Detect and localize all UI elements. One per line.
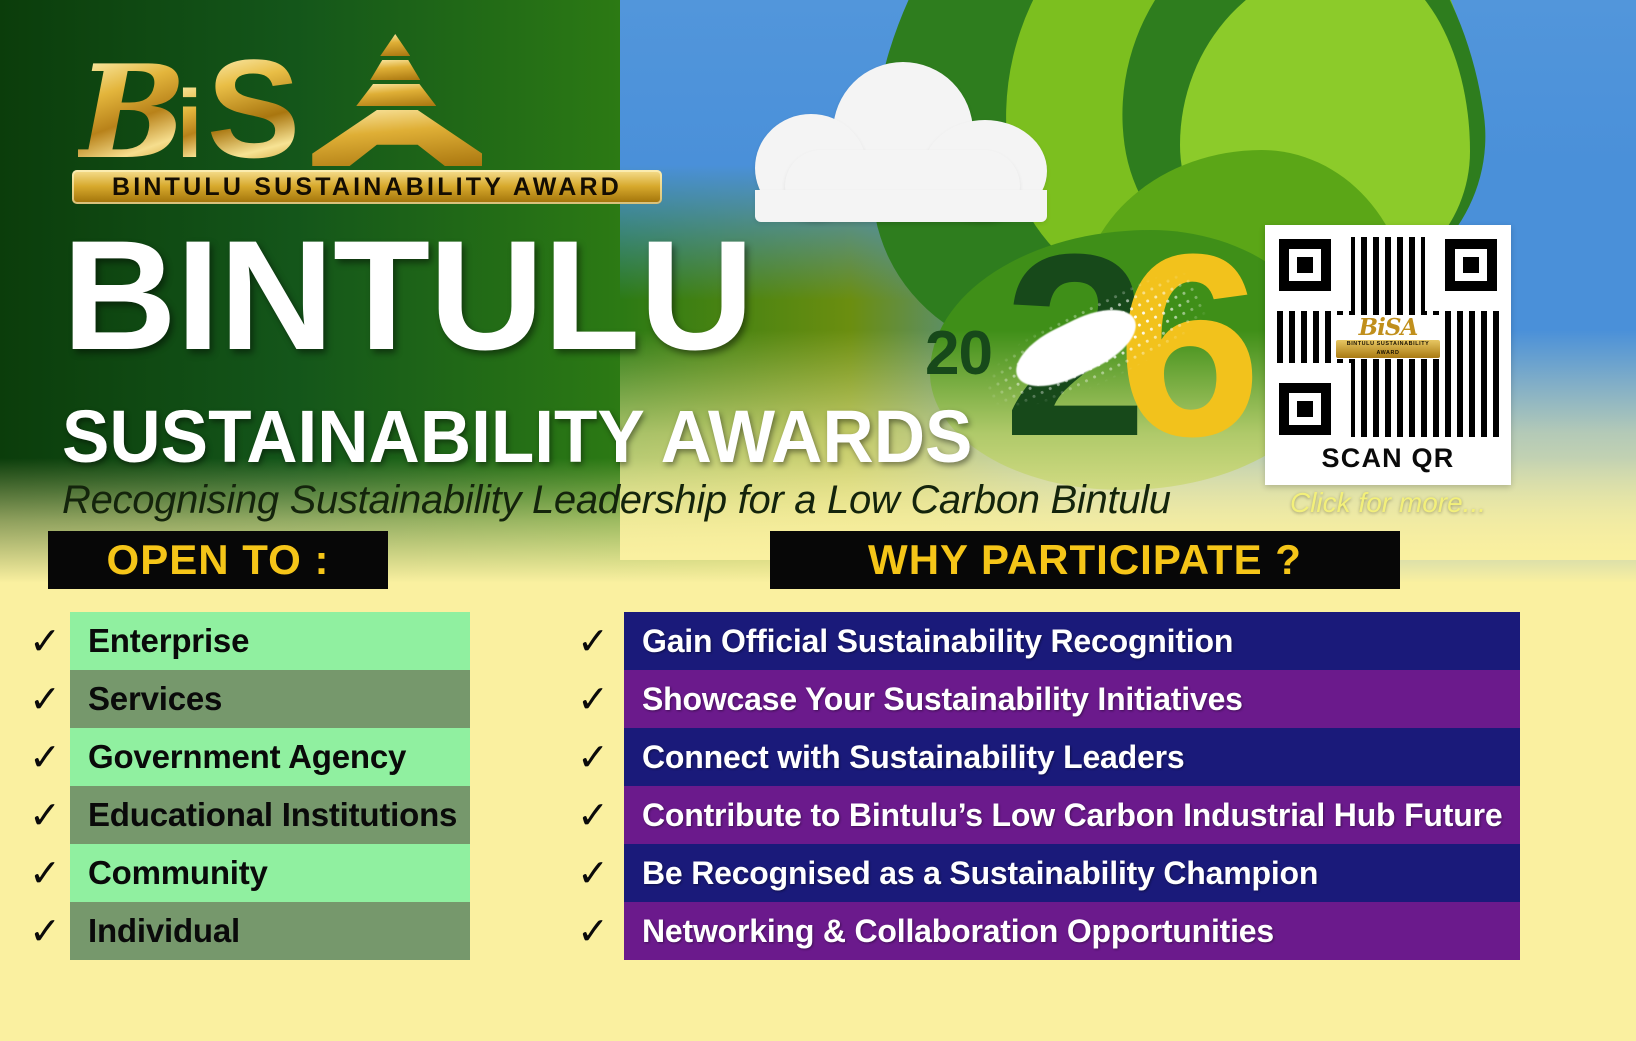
why-participate-item-row: ✓Networking & Collaboration Opportunitie… (562, 902, 1520, 960)
check-icon: ✓ (20, 796, 70, 834)
open-to-header-bar: OPEN TO : (48, 531, 388, 589)
open-to-item-pill: Educational Institutions (70, 786, 470, 844)
why-participate-item-label: Connect with Sustainability Leaders (642, 739, 1184, 776)
qr-caption: SCAN QR (1322, 443, 1455, 474)
qr-card[interactable]: BiSA BINTULU SUSTAINABILITY AWARD SCAN Q… (1265, 225, 1511, 485)
bisa-logo-mark: B i S (72, 26, 672, 168)
why-participate-header-bar: WHY PARTICIPATE ? (770, 531, 1400, 589)
logo-letter-s: S (207, 50, 300, 168)
logo-letter-i: i (176, 82, 203, 168)
why-participate-list: ✓Gain Official Sustainability Recognitio… (562, 612, 1520, 960)
check-icon: ✓ (20, 912, 70, 950)
check-icon: ✓ (562, 622, 624, 660)
open-to-item-label: Individual (88, 912, 240, 950)
why-participate-item-pill: Be Recognised as a Sustainability Champi… (624, 844, 1520, 902)
poster-canvas: B i S BINTULU SUSTAINABILITY AWARD BINTU… (0, 0, 1636, 1041)
check-icon: ✓ (20, 738, 70, 776)
open-to-item-pill: Community (70, 844, 470, 902)
open-to-item-label: Enterprise (88, 622, 249, 660)
why-participate-item-pill: Showcase Your Sustainability Initiatives (624, 670, 1520, 728)
check-icon: ✓ (562, 796, 624, 834)
qr-click-link[interactable]: Click for more... (1265, 487, 1511, 519)
why-participate-heading: WHY PARTICIPATE ? (868, 536, 1302, 584)
open-to-item-row: ✓Community (20, 844, 470, 902)
open-to-item-row: ✓Individual (20, 902, 470, 960)
why-participate-item-pill: Gain Official Sustainability Recognition (624, 612, 1520, 670)
open-to-item-row: ✓Government Agency (20, 728, 470, 786)
bisa-logo: B i S BINTULU SUSTAINABILITY AWARD (72, 26, 672, 216)
why-participate-item-label: Be Recognised as a Sustainability Champi… (642, 855, 1318, 892)
open-to-item-label: Government Agency (88, 738, 406, 776)
open-to-item-label: Community (88, 854, 268, 892)
pyramid-icon (302, 30, 492, 168)
qr-logo-bar-text: BINTULU SUSTAINABILITY AWARD (1336, 340, 1440, 358)
why-participate-item-label: Contribute to Bintulu’s Low Carbon Indus… (642, 797, 1502, 834)
open-to-item-label: Educational Institutions (88, 796, 457, 834)
qr-logo-mark: BiSA (1359, 316, 1418, 339)
open-to-list: ✓Enterprise✓Services✓Government Agency✓E… (20, 612, 470, 960)
check-icon: ✓ (562, 912, 624, 950)
qr-embedded-logo: BiSA BINTULU SUSTAINABILITY AWARD (1332, 315, 1444, 359)
why-participate-item-row: ✓Be Recognised as a Sustainability Champ… (562, 844, 1520, 902)
check-icon: ✓ (20, 680, 70, 718)
year-digit-6: 6 (1117, 216, 1262, 476)
qr-finder-top-right (1445, 239, 1497, 291)
open-to-item-pill: Government Agency (70, 728, 470, 786)
qr-finder-top-left (1279, 239, 1331, 291)
qr-finder-bottom-left (1279, 383, 1331, 435)
check-icon: ✓ (562, 854, 624, 892)
why-participate-item-row: ✓Contribute to Bintulu’s Low Carbon Indu… (562, 786, 1520, 844)
open-to-item-pill: Individual (70, 902, 470, 960)
open-to-item-row: ✓Services (20, 670, 470, 728)
why-participate-item-label: Networking & Collaboration Opportunities (642, 913, 1274, 950)
logo-banner-text: BINTULU SUSTAINABILITY AWARD (112, 173, 622, 202)
open-to-heading: OPEN TO : (107, 536, 330, 584)
qr-code-image[interactable]: BiSA BINTULU SUSTAINABILITY AWARD (1277, 237, 1499, 437)
why-participate-item-row: ✓Connect with Sustainability Leaders (562, 728, 1520, 786)
why-participate-item-row: ✓Showcase Your Sustainability Initiative… (562, 670, 1520, 728)
why-participate-item-row: ✓Gain Official Sustainability Recognitio… (562, 612, 1520, 670)
why-participate-item-pill: Connect with Sustainability Leaders (624, 728, 1520, 786)
logo-letter-b: B (78, 60, 180, 168)
check-icon: ✓ (562, 680, 624, 718)
why-participate-item-pill: Contribute to Bintulu’s Low Carbon Indus… (624, 786, 1520, 844)
year-2026: 2 6 20 (915, 238, 1245, 498)
check-icon: ✓ (562, 738, 624, 776)
open-to-item-pill: Enterprise (70, 612, 470, 670)
open-to-item-pill: Services (70, 670, 470, 728)
open-to-item-label: Services (88, 680, 222, 718)
page-subtitle: SUSTAINABILITY AWARDS (62, 400, 972, 474)
check-icon: ✓ (20, 854, 70, 892)
year-prefix-20: 20 (925, 318, 992, 389)
open-to-item-row: ✓Enterprise (20, 612, 470, 670)
logo-banner: BINTULU SUSTAINABILITY AWARD (72, 170, 662, 204)
page-title: BINTULU (62, 222, 753, 372)
why-participate-item-label: Gain Official Sustainability Recognition (642, 623, 1233, 660)
why-participate-item-label: Showcase Your Sustainability Initiatives (642, 681, 1243, 718)
open-to-item-row: ✓Educational Institutions (20, 786, 470, 844)
check-icon: ✓ (20, 622, 70, 660)
why-participate-item-pill: Networking & Collaboration Opportunities (624, 902, 1520, 960)
